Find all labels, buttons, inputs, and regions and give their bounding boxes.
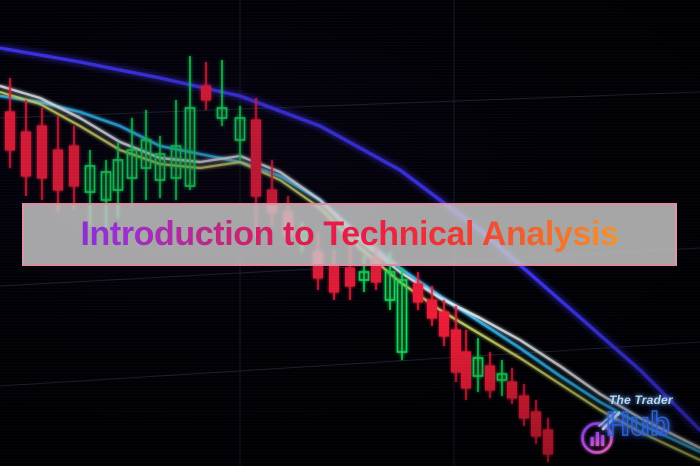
- banner-image: Introduction to Technical Analysis The T…: [0, 0, 700, 466]
- brand-logo[interactable]: The Trader Hub: [578, 391, 694, 457]
- title-banner: Introduction to Technical Analysis: [22, 203, 677, 266]
- logo-main-label: Hub: [606, 405, 670, 443]
- page-title: Introduction to Technical Analysis: [80, 215, 618, 254]
- logo-wordmark: The Trader Hub: [606, 391, 696, 453]
